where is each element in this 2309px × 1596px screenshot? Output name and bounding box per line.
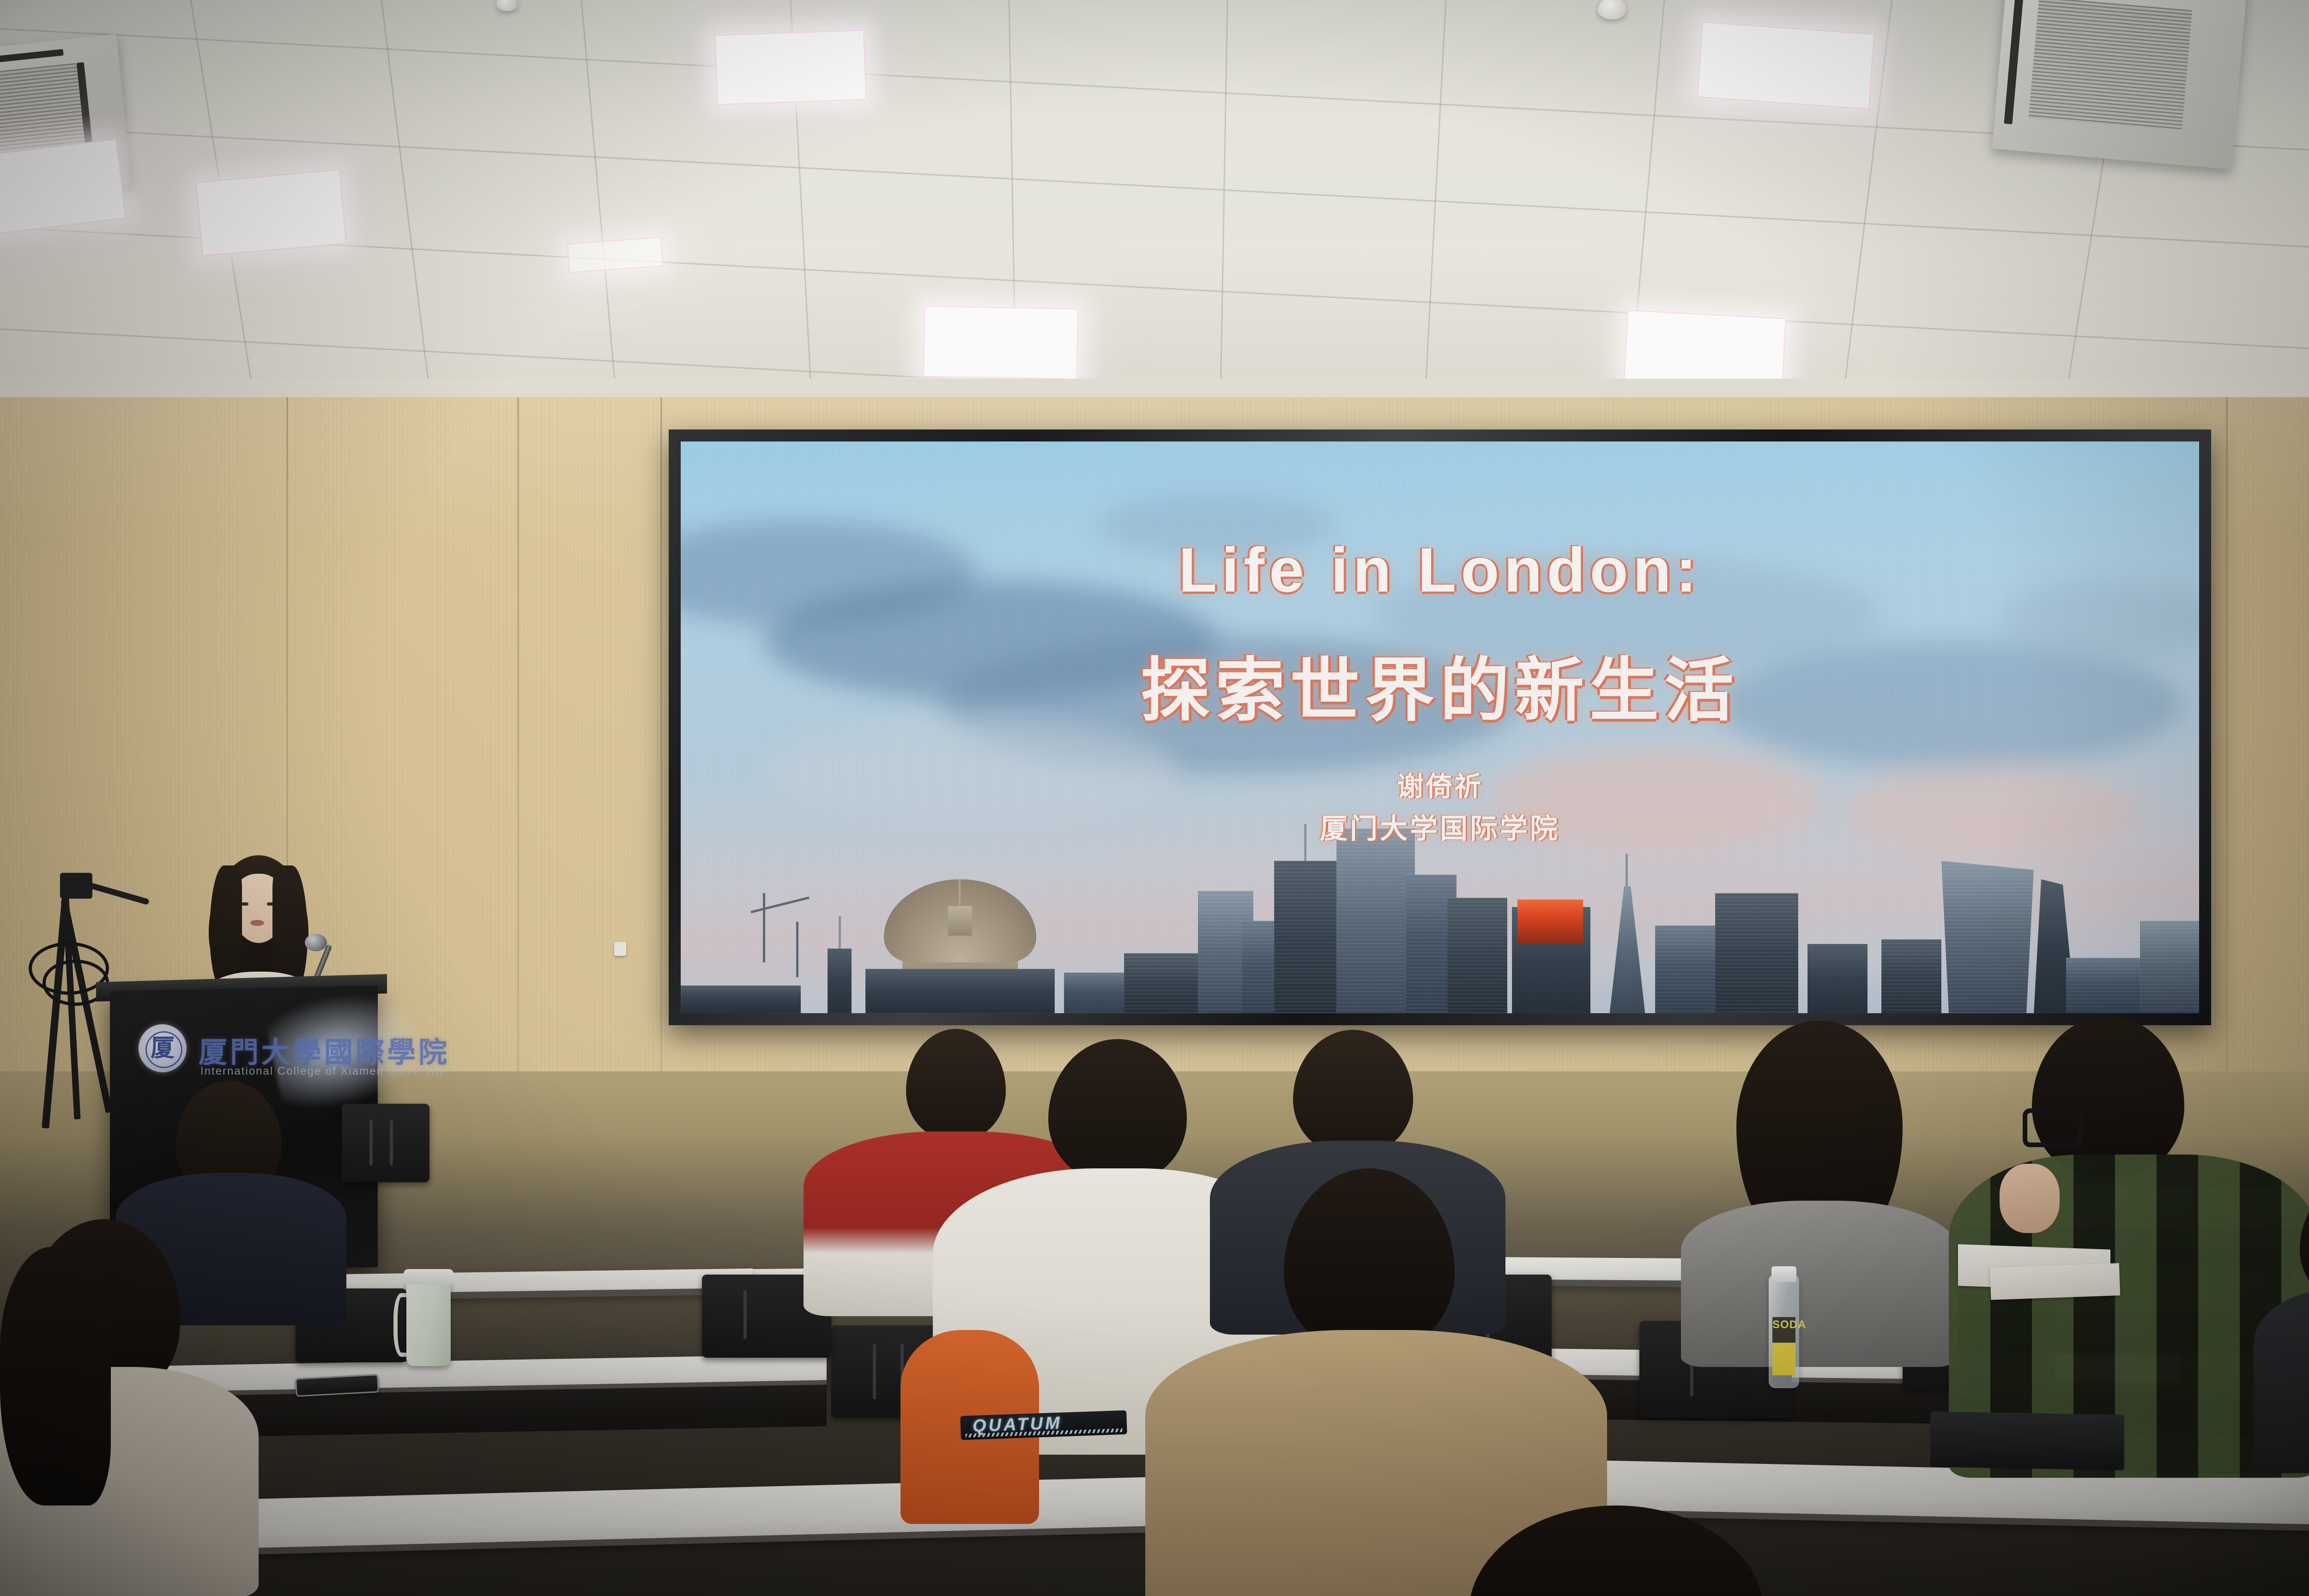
presenter-mouth (250, 920, 264, 926)
bottle-cap (1771, 1266, 1796, 1282)
seal-glyph: 厦 (139, 1037, 187, 1061)
slide-author: 谢倚祈 (681, 765, 2199, 804)
tripod-pan-arm (86, 882, 150, 905)
podium-chinese-label: 厦門大學國際學院 (199, 1029, 450, 1070)
ceiling-panel-light (1697, 22, 1875, 109)
audience-glasses-icon (2023, 1108, 2083, 1147)
wall-hook (614, 942, 626, 956)
water-tumbler (406, 1278, 451, 1366)
paper-sheet (1990, 1263, 2120, 1300)
presenter-hair-left (210, 865, 242, 990)
audience-hair-strand (0, 1247, 111, 1505)
ceiling-panel-light (714, 30, 866, 105)
bottle-brand-text: SODA (1772, 1320, 1795, 1330)
chair (342, 1104, 429, 1182)
led-video-wall-screen: Life in London: 探索世界的新生活 谢倚祈 厦门大学国际学院 (681, 441, 2199, 1013)
smoke-detector-icon (496, 0, 518, 11)
slide-title-en: Life in London: (681, 534, 2199, 606)
lecture-hall-photo: Life in London: 探索世界的新生活 谢倚祈 厦门大学国际学院 (0, 0, 2309, 1596)
university-seal-icon: 厦 (139, 1024, 187, 1072)
slide-affiliation: 厦门大学国际学院 (681, 806, 2199, 846)
smoke-detector-icon (1598, 0, 1626, 19)
microphone-head (305, 934, 327, 951)
ceiling-panel-light (567, 237, 663, 273)
ceiling-panel-light (923, 306, 1079, 380)
illuminated-red-facade (1517, 900, 1583, 944)
led-video-wall-bezel: Life in London: 探索世界的新生活 谢倚祈 厦门大学国际学院 (669, 429, 2211, 1025)
laptop[interactable] (1930, 1411, 2124, 1470)
bottle-label: SODA (1772, 1317, 1795, 1375)
audience-hand (2000, 1164, 2060, 1233)
walkie-talkie-tower (1941, 861, 2034, 1013)
slide-title-cn: 探索世界的新生活 (681, 635, 2199, 735)
audience-torso (1681, 1201, 1958, 1367)
ceiling-ac-unit (1992, 0, 2248, 169)
podium-english-label: International College of Xiamen Universi… (200, 1065, 446, 1078)
ceiling (0, 0, 2309, 406)
ceiling-panel-light (1624, 310, 1786, 389)
tumbler-lid (404, 1269, 453, 1285)
